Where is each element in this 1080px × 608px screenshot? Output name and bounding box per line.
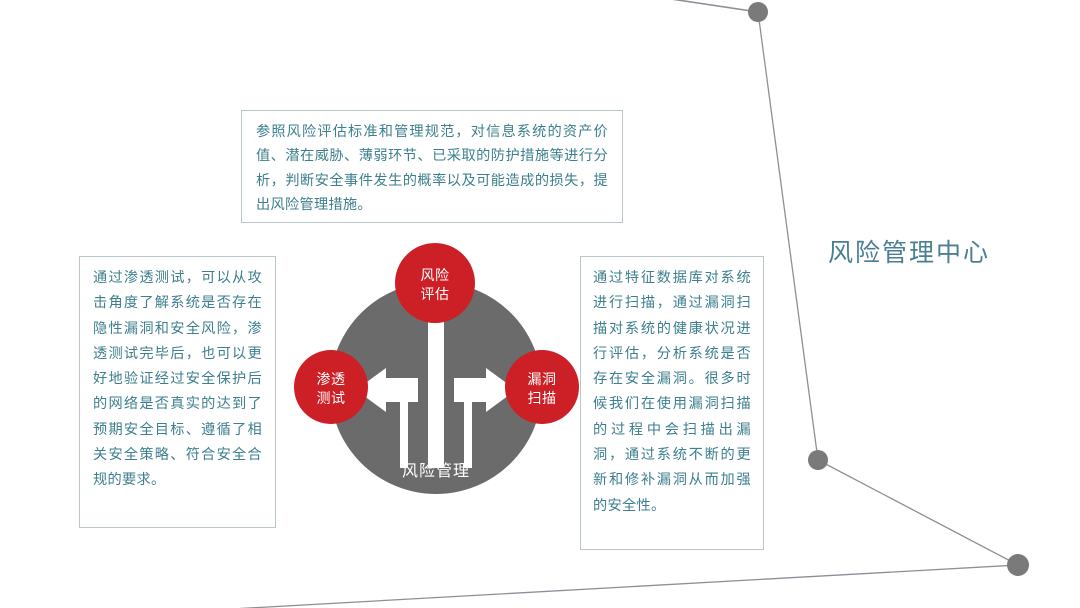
wheel-node-vulnerability-scan[interactable]: 漏洞 扫描: [505, 350, 579, 424]
penetration-test-description-text: 通过渗透测试，可以从攻击角度了解系统是否存在隐性漏洞和安全风险，渗透测试完毕后，…: [93, 270, 262, 488]
wheel-node-risk-assessment-circle[interactable]: [395, 243, 475, 323]
risk-assessment-description-text: 参照风险评估标准和管理规范，对信息系统的资产价值、潜在威胁、薄弱环节、已采取的防…: [256, 124, 608, 213]
hub-label: 风险管理: [402, 462, 470, 480]
wheel-node-risk-assessment[interactable]: 风险 评估: [395, 243, 475, 323]
vulnerability-scan-description-text: 通过特征数据库对系统进行扫描，通过漏洞扫描对系统的健康状况进行评估，分析系统是否…: [593, 270, 751, 514]
wheel-node-vulnerability-scan-circle[interactable]: [505, 350, 579, 424]
wheel-node-vulnerability-scan-label-line2: 扫描: [528, 390, 557, 406]
network-nodes: [748, 2, 1029, 576]
network-edge-bottom-left-out: [196, 565, 1018, 608]
risk-management-wheel: 风险管理 风险 评估 渗透 测试 漏洞 扫描: [290, 238, 582, 510]
diagram-canvas: 参照风险评估标准和管理规范，对信息系统的资产价值、潜在威胁、薄弱环节、已采取的防…: [0, 0, 1080, 608]
wheel-node-penetration-test-label-line1: 渗透: [317, 371, 346, 387]
wheel-node-penetration-test-label-line2: 测试: [317, 390, 346, 406]
risk-assessment-description-box: 参照风险评估标准和管理规范，对信息系统的资产价值、潜在威胁、薄弱环节、已采取的防…: [241, 110, 623, 223]
vulnerability-scan-description-box: 通过特征数据库对系统进行扫描，通过漏洞扫描对系统的健康状况进行评估，分析系统是否…: [580, 256, 764, 550]
network-node-top-right: [748, 2, 768, 22]
page-title: 风险管理中心: [828, 233, 990, 269]
penetration-test-description-box: 通过渗透测试，可以从攻击角度了解系统是否存在隐性漏洞和安全风险，渗透测试完毕后，…: [79, 256, 276, 528]
network-edge-top-left-out: [651, 0, 758, 12]
wheel-node-penetration-test[interactable]: 渗透 测试: [294, 350, 368, 424]
wheel-node-penetration-test-circle[interactable]: [294, 350, 368, 424]
network-node-bottom-right: [1007, 554, 1029, 576]
network-edge-top-to-mid: [758, 12, 818, 460]
wheel-node-risk-assessment-label-line1: 风险: [421, 267, 450, 283]
network-node-mid-right: [808, 450, 828, 470]
wheel-node-vulnerability-scan-label-line1: 漏洞: [528, 371, 557, 387]
network-edge-mid-to-bottom: [818, 460, 1018, 565]
wheel-node-risk-assessment-label-line2: 评估: [421, 286, 450, 302]
